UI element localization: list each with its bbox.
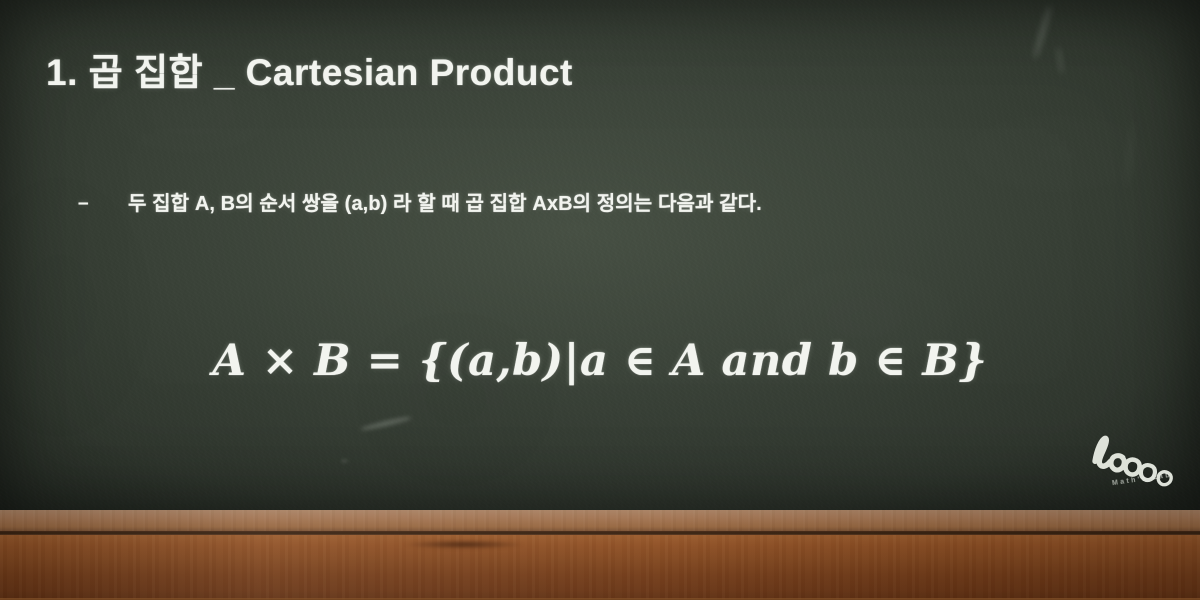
bullet-item-text: 두 집합 A, B의 순서 쌍을 (a,b) 라 할 때 곱 집합 AxB의 정… <box>128 191 762 217</box>
bullet-item: – 두 집합 A, B의 순서 쌍을 (a,b) 라 할 때 곱 집합 AxB의… <box>78 191 762 217</box>
chalk-smudge-top-right <box>1032 4 1052 59</box>
chalk-ledge-top-surface <box>0 510 1200 531</box>
chalk-ledge <box>0 510 1200 600</box>
chalk-smudge-mid-left <box>360 415 412 432</box>
chalk-smudge-right-faint <box>1124 120 1134 190</box>
chalk-ledge-top-grain <box>0 510 1200 531</box>
chalk-ledge-front-grain <box>0 535 1200 600</box>
cartesian-product-formula: A × B = {(a,b)|a ∈ A and b ∈ B} <box>0 336 1200 386</box>
slide-canvas: 1. 곱 집합 _ Cartesian Product – 두 집합 A, B의… <box>0 0 1200 600</box>
slide-title: 1. 곱 집합 _ Cartesian Product <box>46 42 573 96</box>
chalk-ledge-front-face <box>0 535 1200 600</box>
bullet-dash-marker: – <box>78 191 128 217</box>
chalk-smudge-top-right-secondary <box>1056 46 1064 74</box>
chalk-ledge-wood-knot <box>404 540 524 549</box>
chalk-smudge-dot <box>341 459 348 463</box>
